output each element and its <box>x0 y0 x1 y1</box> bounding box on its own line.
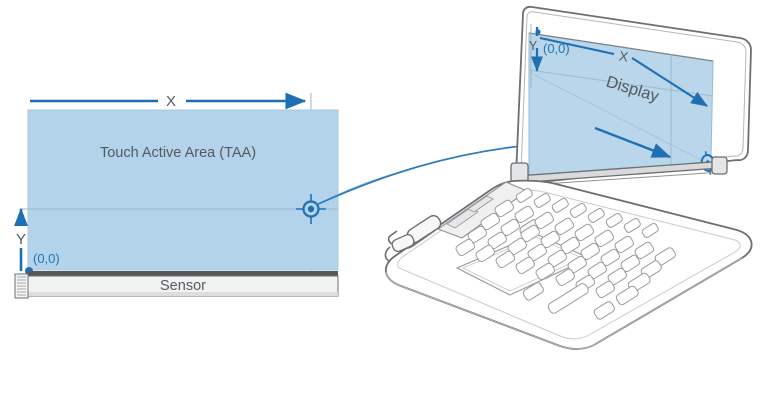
taa-origin-label: (0,0) <box>33 251 60 266</box>
display-origin-dot-icon <box>535 29 540 34</box>
touch-active-area-label: Touch Active Area (TAA) <box>100 145 256 161</box>
left-touch-panel-group: X Y (0,0) Touch Active Area (TAA) <box>15 93 338 298</box>
taa-y-label: Y <box>16 231 26 248</box>
hinge-left-block <box>511 163 528 182</box>
usb-cable-curve <box>385 247 390 261</box>
sensor-bar-group: Sensor <box>28 271 338 296</box>
diagram-canvas: X Y (0,0) Touch Active Area (TAA) <box>0 0 762 400</box>
diagram-svg: X Y (0,0) Touch Active Area (TAA) <box>0 0 762 400</box>
hinge-right-block <box>712 157 727 174</box>
taa-x-label: X <box>166 93 176 110</box>
touch-active-area-rect <box>28 110 338 270</box>
display-origin-label: (0,0) <box>543 41 570 56</box>
laptop-icon: Y X (0,0) Display <box>385 7 751 349</box>
taa-x-dimension: X <box>30 93 305 110</box>
taa-y-dimension: Y <box>16 209 26 271</box>
ribbon-connector-icon <box>15 274 28 298</box>
sensor-top-edge <box>28 271 338 276</box>
display-y-label: Y <box>529 39 538 53</box>
sensor-label: Sensor <box>160 278 206 294</box>
